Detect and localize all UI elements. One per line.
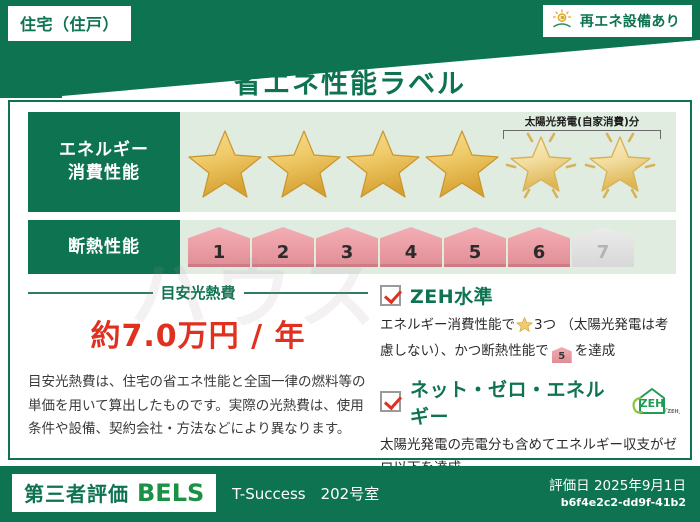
utility-cost-heading-text: 目安光熱費 [161,282,236,303]
bels-en-label: BELS [137,479,204,507]
insulation-chip: 1 [188,227,250,267]
solar-bracket [503,130,661,139]
insulation-chip-number: 4 [405,242,418,263]
energy-rating-area: 太陽光発電(自家消費)分 [180,112,676,212]
star-filled [344,125,422,199]
main-card: ハウス エネルギー 消費性能 太陽光発電(自家消費)分 [8,100,692,460]
utility-cost-heading: 目安光熱費 [28,282,368,303]
insulation-chip-number: 3 [341,242,354,263]
bels-jp-label: 第三者評価 [24,478,129,507]
criteria-nze-header: ネット・ゼロ・エネルギー ZEH 「ZEH」 [380,375,680,429]
insulation-label: 断熱性能 [68,236,140,259]
checkbox-checked-icon [380,285,401,306]
solar-self-consumption-note: 太陽光発電(自家消費)分 [496,114,668,139]
inline-star-icon [516,316,533,340]
svg-text:「ZEH」: 「ZEH」 [662,408,680,415]
title-block: 建築物省エネ法に基づく 省エネ性能ラベル [0,40,700,101]
insulation-chip: 2 [252,227,314,267]
solar-note-text: 太陽光発電(自家消費)分 [496,114,668,129]
insulation-chip-inactive: 7 [572,227,634,267]
house-type-tag: 住宅（住戸） [8,6,131,41]
energy-label-line2: 消費性能 [68,162,140,185]
insulation-chip-scale: 1 2 3 4 5 6 7 [188,227,634,267]
page-title: 省エネ性能ラベル [0,62,700,101]
insulation-chip: 4 [380,227,442,267]
sun-icon [551,9,573,33]
criteria-net-zero-energy: ネット・ゼロ・エネルギー ZEH 「ZEH」 太陽光発電の売電分も含めてエネルギ… [380,375,680,480]
energy-label-line1: エネルギー [59,139,149,162]
criteria-zeh-body-part2: を達成 [575,343,616,359]
insulation-chip-number: 5 [469,242,482,263]
evaluation-id: b6f4e2c2-dd9f-41b2 [561,496,686,509]
insulation-chip: 3 [316,227,378,267]
insulation-chip-number: 1 [213,242,226,263]
renewable-badge-label: 再エネ設備あり [580,11,680,31]
star-filled [186,125,264,199]
bels-certification-badge: 第三者評価 BELS [12,474,216,512]
insulation-chip-number: 2 [277,242,290,263]
utility-cost-value: 約7.0万円 / 年 [28,311,368,355]
insulation-performance-row: 断熱性能 1 2 3 4 5 6 7 [28,220,676,274]
checkbox-checked-icon [380,391,401,412]
criteria-zeh-body: エネルギー消費性能で3つ （太陽光発電は考慮しない）、かつ断熱性能で5を達成 [380,314,680,363]
heading-rule-right [244,292,369,294]
inline-insulation-chip-icon: 5 [552,347,572,363]
insulation-chip-number: 6 [533,242,546,263]
heading-rule-left [28,292,153,294]
inline-chip-number: 5 [558,351,565,362]
criteria-zeh-title: ZEH水準 [410,282,493,309]
criteria-zeh-body-part1: エネルギー消費性能で [380,317,515,333]
star-filled [423,125,501,199]
footer-bar: 第三者評価 BELS T-Success 202号室 評価日 2025年9月1日… [0,466,700,522]
criteria-nze-title: ネット・ゼロ・エネルギー [410,375,617,429]
lower-section: 目安光熱費 約7.0万円 / 年 目安光熱費は、住宅の省エネ性能と全国一律の燃料… [10,282,694,460]
utility-cost-column: 目安光熱費 約7.0万円 / 年 目安光熱費は、住宅の省エネ性能と全国一律の燃料… [28,282,368,442]
insulation-chip: 6 [508,227,570,267]
criteria-zeh-header: ZEH水準 [380,282,680,309]
insulation-rating-area: 1 2 3 4 5 6 7 [180,220,676,274]
utility-cost-description: 目安光熱費は、住宅の省エネ性能と全国一律の燃料等の単価を用いて算出したものです。… [28,371,368,442]
evaluation-date: 評価日 2025年9月1日 [549,474,686,494]
criteria-zeh-level: ZEH水準 エネルギー消費性能で3つ （太陽光発電は考慮しない）、かつ断熱性能で… [380,282,680,363]
criteria-column: ZEH水準 エネルギー消費性能で3つ （太陽光発電は考慮しない）、かつ断熱性能で… [380,282,680,492]
title-subtitle: 建築物省エネ法に基づく [0,40,700,59]
building-unit-name: T-Success 202号室 [232,483,379,504]
zeh-house-logo-icon: ZEH 「ZEH」 [630,385,680,419]
energy-performance-label-block: エネルギー 消費性能 [28,112,180,212]
energy-performance-label: 住宅（住戸） 再エネ設備あり 建築物省エネ法に基づく 省エネ性能ラベル ハウス [0,0,700,522]
star-filled [265,125,343,199]
renewable-energy-badge: 再エネ設備あり [543,5,692,37]
energy-performance-row: エネルギー 消費性能 太陽光発電(自家消費)分 [28,112,676,212]
insulation-chip-number: 7 [597,242,610,263]
insulation-label-block: 断熱性能 [28,220,180,274]
svg-text:ZEH: ZEH [640,397,665,410]
insulation-chip: 5 [444,227,506,267]
